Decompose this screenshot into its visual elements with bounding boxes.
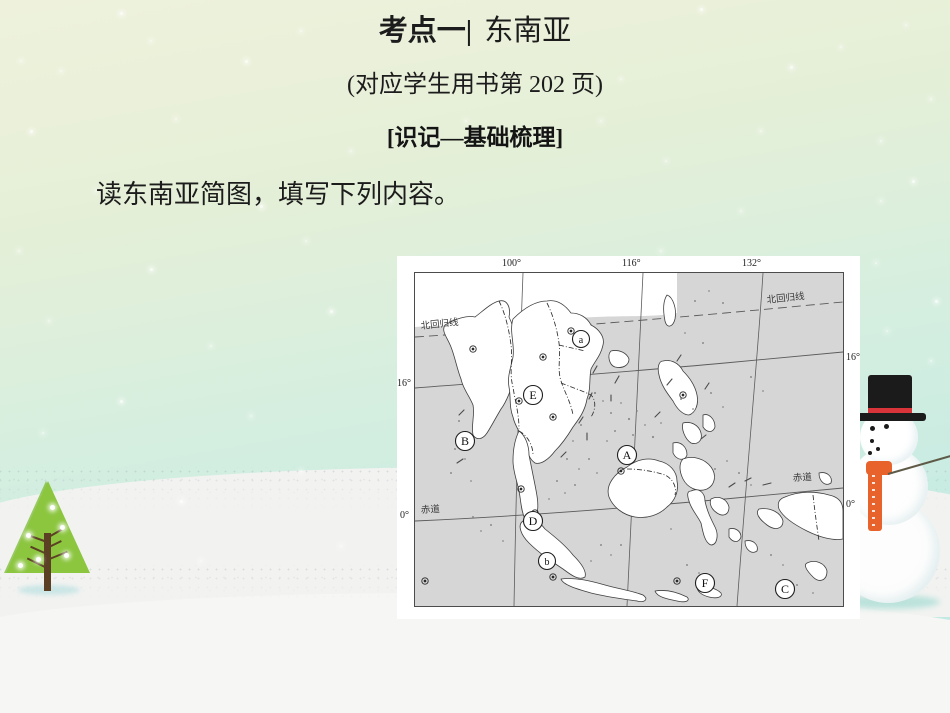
longitude-label-100: 100°: [502, 258, 521, 269]
topic-label: 东南亚: [484, 15, 571, 47]
snowflake: [935, 300, 938, 303]
tree-light: [50, 505, 55, 510]
title-separator: |: [466, 15, 472, 47]
map-panel: 100° 116° 132° 16° 0° 16° 0°: [397, 256, 860, 619]
tree-light: [18, 563, 23, 568]
latitude-label-right-0: 0°: [846, 499, 855, 510]
snowflake: [930, 360, 932, 362]
latitude-label-left-16: 16°: [397, 378, 411, 389]
tree-light: [60, 525, 65, 530]
map-marker-label-b: b: [545, 557, 550, 568]
map-marker-label-A: A: [623, 448, 632, 462]
snowman-eye: [884, 424, 889, 429]
tree-light: [36, 557, 41, 562]
longitude-label-116: 116°: [622, 258, 641, 269]
map-marker-label-D: D: [529, 514, 538, 528]
snowman-nose: [870, 439, 874, 443]
christmas-tree-icon: [6, 481, 92, 589]
slide-canvas: 考点一|东南亚 (对应学生用书第 202 页) [识记—基础梳理] 读东南亚简图…: [0, 0, 950, 713]
tree-light: [26, 533, 31, 538]
map-marker-label-B: B: [461, 434, 469, 448]
latitude-label-right-16: 16°: [846, 352, 860, 363]
snowflake: [150, 268, 153, 271]
snowflake: [305, 240, 307, 242]
text-block: 考点一|东南亚 (对应学生用书第 202 页) [识记—基础梳理] 读东南亚简图…: [0, 0, 950, 211]
snowflake: [18, 250, 20, 252]
snowflake: [875, 262, 877, 264]
snowflake: [42, 432, 44, 434]
map-figure: abABCDEF 北回归线北回归线赤道赤道: [414, 272, 844, 607]
snowflake: [330, 310, 333, 313]
snowman-nose: [868, 451, 872, 455]
longitude-label-row: 100° 116° 132°: [414, 256, 842, 272]
map-marker-label-C: C: [781, 582, 789, 596]
map-marker-label-a: a: [579, 335, 584, 346]
map-marker-label-F: F: [702, 576, 709, 590]
tree-light: [64, 553, 69, 558]
longitude-label-132: 132°: [742, 258, 761, 269]
prompt-text: 读东南亚简图，填写下列内容。: [0, 174, 950, 211]
snowflake: [210, 345, 212, 347]
keypoint-label: 考点一: [379, 15, 466, 47]
map-inline-label-3: 赤道: [793, 471, 813, 484]
latitude-label-left-0: 0°: [400, 510, 409, 521]
map-inline-label-2: 赤道: [421, 503, 441, 516]
snowman-eye: [870, 426, 875, 431]
snowflake: [250, 415, 252, 417]
page-title: 考点一|东南亚: [0, 16, 950, 46]
snowman-hat-brim: [854, 413, 926, 421]
snowflake: [660, 250, 662, 252]
section-bracket: [识记—基础梳理]: [0, 118, 950, 152]
snowflake: [886, 330, 888, 332]
snowman-nose: [876, 447, 880, 451]
snowflake: [120, 400, 123, 403]
snowflake: [48, 320, 50, 322]
snowman-scarf-tail: [868, 471, 882, 531]
map-marker-label-E: E: [529, 388, 536, 402]
subtitle: (对应学生用书第 202 页): [0, 64, 950, 99]
